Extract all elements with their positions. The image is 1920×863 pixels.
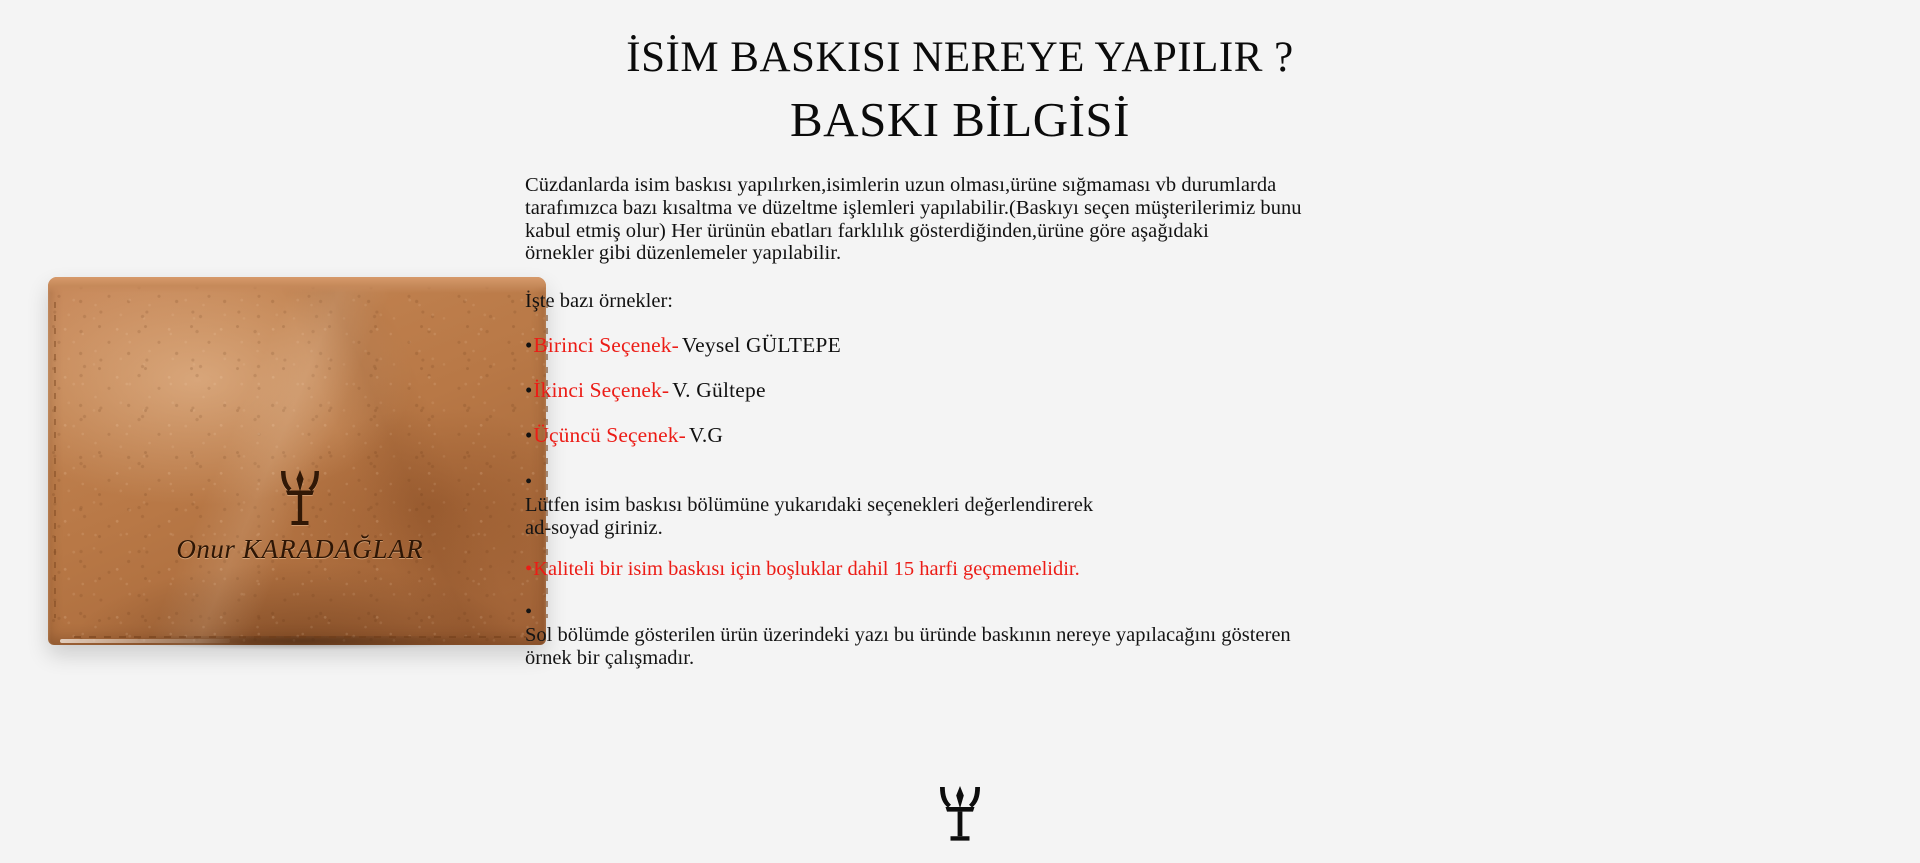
character-limit-warning: •Kaliteli bir isim baskısı için boşlukla…: [525, 558, 1535, 581]
instruction-note: •Lütfen isim baskısı bölümüne yukarıdaki…: [525, 471, 1535, 540]
wallet-stitching-bottom: [74, 636, 526, 638]
option-label: İkinci Seçenek-: [533, 378, 669, 402]
page-title: İSİM BASKISI NEREYE YAPILIR ? BASKI BİLG…: [0, 34, 1920, 150]
product-info-page: İSİM BASKISI NEREYE YAPILIR ? BASKI BİLG…: [0, 0, 1920, 863]
note-line-1-text: Lütfen isim baskısı bölümüne yukarıdaki …: [525, 494, 1535, 517]
tail-line-2: örnek bir çalışmadır.: [525, 647, 1535, 670]
intro-line-1: Cüzdanlarda isim baskısı yapılırken,isim…: [525, 174, 1535, 197]
sample-disclaimer: •Sol bölümde gösterilen ürün üzerindeki …: [525, 601, 1535, 670]
intro-line-4: örnekler gibi düzenlemeler yapılabilir.: [525, 242, 1535, 265]
info-content: Cüzdanlarda isim baskısı yapılırken,isim…: [525, 174, 1535, 670]
product-image: Onur KARADAĞLAR: [40, 272, 560, 652]
engraved-name: Onur KARADAĞLAR: [40, 534, 560, 565]
bullet-icon: •: [525, 333, 532, 357]
tail-line-1: •Sol bölümde gösterilen ürün üzerindeki …: [525, 601, 1535, 647]
page-title-line-1: İSİM BASKISI NEREYE YAPILIR ?: [0, 34, 1920, 82]
wallet-body: [48, 277, 546, 645]
option-label: Üçüncü Seçenek-: [533, 423, 686, 447]
note-line-2: ad-soyad giriniz.: [525, 517, 1535, 540]
option-value: V. Gültepe: [672, 378, 766, 402]
bullet-icon: •: [525, 378, 532, 402]
option-value: Veysel GÜLTEPE: [682, 333, 841, 357]
option-row: •Üçüncü Seçenek-V.G: [525, 423, 1535, 447]
bullet-icon: •: [525, 601, 1534, 624]
trident-icon: [278, 470, 322, 528]
note-line-1: •Lütfen isim baskısı bölümüne yukarıdaki…: [525, 471, 1535, 517]
option-row: •İkinci Seçenek-V. Gültepe: [525, 378, 1535, 402]
intro-line-3: kabul etmiş olur) Her ürünün ebatları fa…: [525, 220, 1535, 243]
intro-line-2: tarafımızca bazı kısaltma ve düzeltme iş…: [525, 197, 1535, 220]
wallet-stitching-right: [546, 302, 548, 618]
wallet-top-edge: [48, 277, 546, 293]
wallet-stitching-left: [54, 302, 56, 618]
bullet-icon: •: [525, 471, 1534, 494]
wallet-fold-edge: [60, 639, 230, 643]
character-limit-warning-text: Kaliteli bir isim baskısı için boşluklar…: [533, 558, 1080, 580]
tail-line-1-text: Sol bölümde gösterilen ürün üzerindeki y…: [525, 624, 1535, 647]
option-value: V.G: [689, 423, 723, 447]
examples-lead: İşte bazı örnekler:: [525, 290, 1535, 312]
option-row: •Birinci Seçenek-Veysel GÜLTEPE: [525, 333, 1535, 357]
trident-icon: [937, 786, 983, 842]
engraved-name-first: Onur: [176, 534, 242, 564]
option-label: Birinci Seçenek-: [533, 333, 678, 357]
bullet-icon: •: [525, 423, 532, 447]
page-title-line-2: BASKI BİLGİSİ: [0, 90, 1920, 150]
intro-paragraph: Cüzdanlarda isim baskısı yapılırken,isim…: [525, 174, 1535, 265]
engraved-name-last: KARADAĞLAR: [243, 534, 424, 564]
